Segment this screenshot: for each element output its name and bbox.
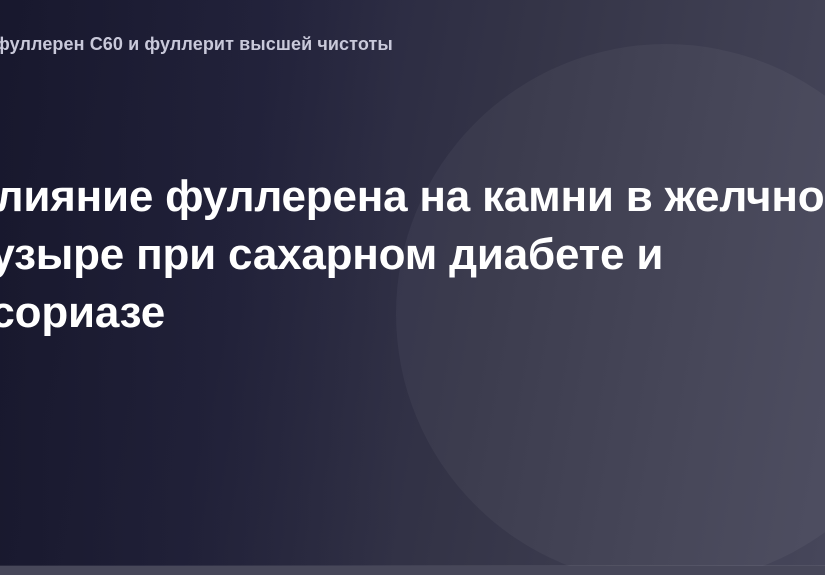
article-card: фуллерен С60 и фуллерит высшей чистоты В… [0,0,825,575]
card-headline: Влияние фуллерена на камни в желчном пуз… [0,168,825,342]
headline-line-1: Влияние фуллерена на камни в желчном [0,168,825,226]
headline-line-3: псориазе [0,284,825,342]
card-kicker: фуллерен С60 и фуллерит высшей чистоты [0,32,393,56]
bottom-band [0,566,825,575]
card-content: фуллерен С60 и фуллерит высшей чистоты В… [0,0,825,575]
headline-line-2: пузыре при сахарном диабете и [0,226,825,284]
